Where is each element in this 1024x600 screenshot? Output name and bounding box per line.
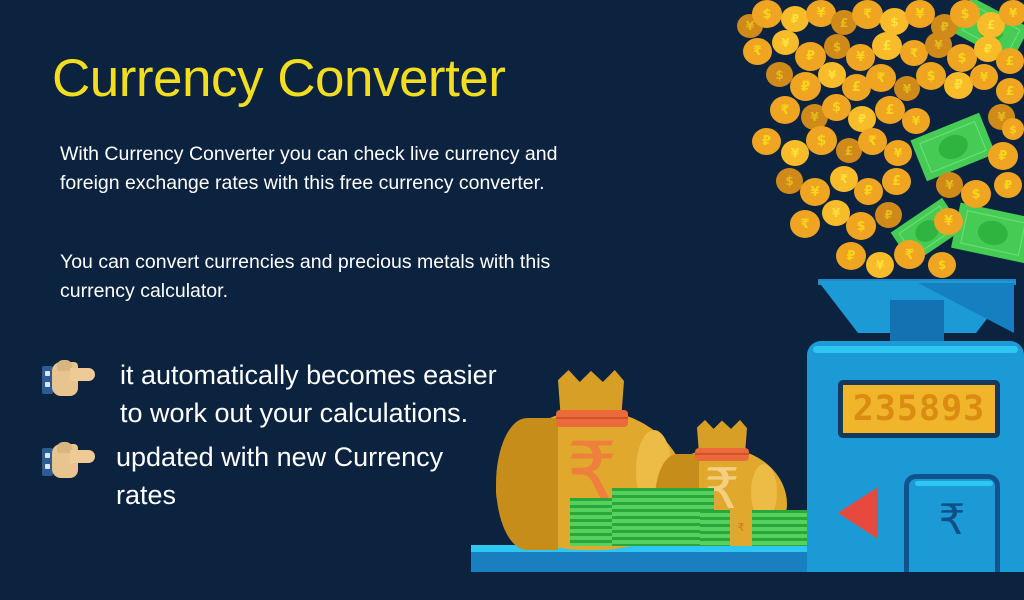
coin: $ [947,44,977,72]
coin: $ [824,34,850,59]
coin: ¥ [781,140,809,166]
bag-tie [695,448,749,461]
coin: ₽ [988,142,1018,170]
coin: ¥ [800,178,830,206]
coin: $ [806,126,837,155]
coin: $ [752,0,782,28]
coin: £ [831,10,857,35]
rupee-icon: ₹ [909,499,995,541]
coin: £ [842,74,871,101]
coin: ¥ [970,64,998,90]
coin: ₹ [830,166,858,192]
scale-display: 235893 [838,380,1000,438]
cash-band: ₹ [730,510,752,546]
coin: £ [882,168,911,195]
coin: £ [996,78,1024,104]
funnel-rim [818,279,1016,285]
coin: ¥ [806,0,836,27]
pointing-hand-icon [40,442,98,482]
pointing-hand-icon [40,360,98,400]
coin: ¥ [902,108,930,134]
list-item-label: updated with new Currency rates [116,438,506,514]
coin: $ [950,0,980,28]
intro-paragraph-2: You can convert currencies and precious … [60,248,560,306]
cash-band: ₹ [614,498,638,546]
currency-button-panel[interactable]: ₹ [904,474,1000,572]
funnel-neck [890,300,944,348]
coin: £ [875,96,905,124]
coin: $ [822,94,851,121]
coin: ¥ [999,0,1024,26]
funnel-shadow [918,283,1014,333]
feature-bullet-list: it automatically becomes easier to work … [40,356,510,520]
panel-highlight [915,481,993,486]
coin: ¥ [801,104,828,130]
coin: $ [928,252,956,278]
bag-highlight [636,430,672,512]
coin: $ [961,180,991,208]
coin: ¥ [936,172,963,198]
bag-neck [558,370,624,416]
coin: ¥ [988,104,1015,130]
list-item: it automatically becomes easier to work … [40,356,510,432]
intro-paragraph-1: With Currency Converter you can check li… [60,140,560,198]
coin: ₽ [781,6,809,32]
cash-stack-right: ₹ [700,510,812,546]
scale-body-highlight [813,346,1018,353]
coin: ₽ [752,128,781,155]
coin: ₹ [866,64,896,92]
cash-stack-left: ₹ [570,498,682,546]
coin: ¥ [894,76,920,101]
coin: ¥ [772,30,799,55]
small-money-bag: ₹ [655,420,787,545]
bag-currency-glyph: ₹ [689,462,755,518]
left-triangle-icon[interactable] [838,487,878,539]
banknote [891,198,964,264]
coin: ₽ [944,72,973,99]
list-item-label: it automatically becomes easier to work … [120,356,510,432]
banknote [952,0,1024,63]
coin: ¥ [934,208,963,235]
coin: ¥ [737,14,763,38]
coin: ₹ [743,38,772,65]
coin: ₹ [894,240,925,269]
coin: ₽ [994,172,1022,198]
coin: ₽ [875,202,902,228]
coin: $ [846,212,876,240]
bag-tie-line [695,453,749,455]
coin: £ [977,12,1005,38]
coin: ₽ [974,36,1002,62]
cash-stack-center [612,488,714,546]
bag-body [655,448,787,545]
coin: ₹ [858,128,887,155]
bag-tie [556,410,628,427]
coin: ₽ [848,106,876,132]
coin: $ [776,168,803,194]
bag-currency-glyph: ₹ [546,432,638,512]
bag-highlight [751,464,777,520]
coin: £ [836,138,862,163]
scale-body [807,341,1024,572]
coin: ₽ [795,42,826,71]
weighing-tray-surface [471,545,808,552]
coin: ¥ [866,252,894,278]
coin: ¥ [905,0,935,28]
coin: ¥ [925,32,952,58]
coin: ¥ [884,140,912,166]
coin: ₹ [790,210,820,238]
bag-neck [697,420,747,454]
coin: $ [1002,118,1024,140]
coin: £ [872,32,902,60]
coin: ¥ [818,62,846,88]
page-title: Currency Converter [52,48,505,110]
weighing-tray-body [471,552,808,572]
banknote [951,203,1024,264]
coin: ¥ [822,200,850,226]
coin: £ [996,48,1024,74]
bag-tie-line [556,417,628,419]
coin: $ [766,62,793,87]
coin: ₽ [854,178,883,205]
coin: ₹ [770,96,800,124]
list-item: updated with new Currency rates [40,438,510,514]
coin: $ [880,8,909,35]
coin: ₽ [836,242,866,270]
bag-shadow [655,454,699,545]
coin: ₹ [900,40,928,66]
scale-display-value: 235893 [853,392,985,427]
banknote [910,113,995,182]
funnel [818,281,1016,333]
bag-body [496,410,686,550]
coin: ₹ [852,0,883,29]
coin: ₽ [790,72,821,101]
coin: ¥ [846,44,875,71]
coin: ₽ [931,14,958,39]
large-money-bag: ₹ [496,370,686,550]
coin: $ [916,62,946,90]
slide-canvas: ¥ $ ₽ ¥ £ ₹ $ ¥ ₽ $ £ ¥ ₹ ¥ ₽ $ ¥ £ ₹ ¥ … [0,0,1024,600]
